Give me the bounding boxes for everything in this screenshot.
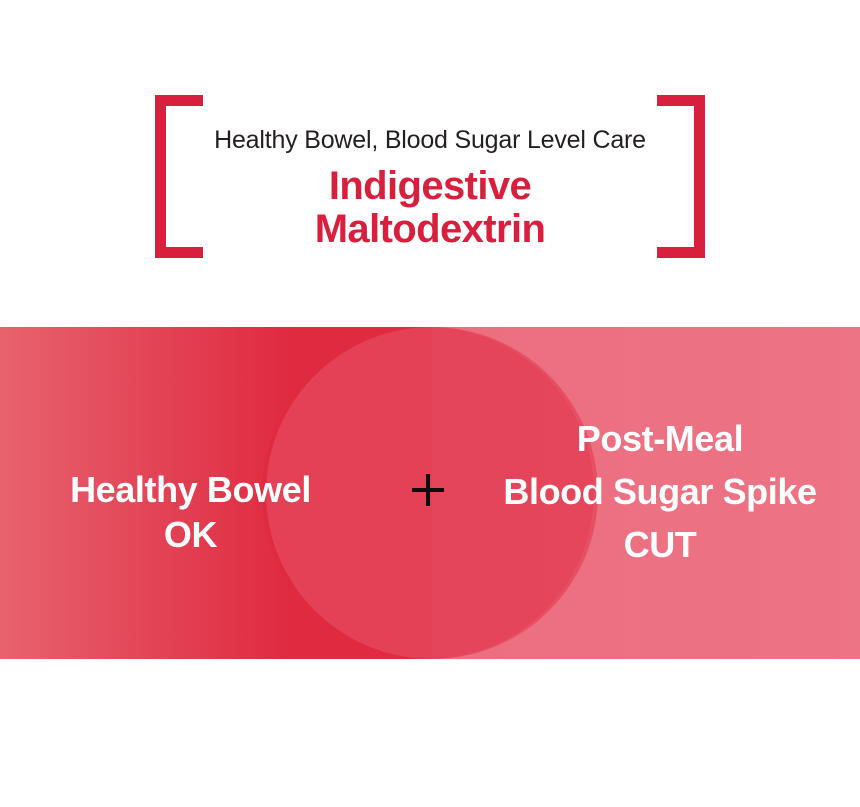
venn-diagram: Healthy Bowel OK Post-Meal Blood Sugar S… [0,327,860,659]
header-eyebrow: Healthy Bowel, Blood Sugar Level Care [0,95,860,155]
venn-left-label: Healthy Bowel OK [18,467,363,557]
brand-title-line-1: Indigestive [0,155,860,208]
venn-left-label-line-2: OK [18,512,363,557]
header-text-group: Healthy Bowel, Blood Sugar Level Care In… [0,95,860,251]
venn-right-label-line-3: CUT [462,518,858,571]
header-block: Healthy Bowel, Blood Sugar Level Care In… [0,95,860,270]
venn-right-label-line-1: Post-Meal [462,412,858,465]
plus-icon-vertical-bar [426,474,430,506]
infographic-page: Healthy Bowel, Blood Sugar Level Care In… [0,0,860,807]
brand-title-line-2: Maltodextrin [0,208,860,251]
venn-left-label-line-1: Healthy Bowel [18,467,363,512]
venn-right-label: Post-Meal Blood Sugar Spike CUT [462,412,858,571]
plus-icon [408,470,448,510]
venn-right-label-line-2: Blood Sugar Spike [462,465,858,518]
